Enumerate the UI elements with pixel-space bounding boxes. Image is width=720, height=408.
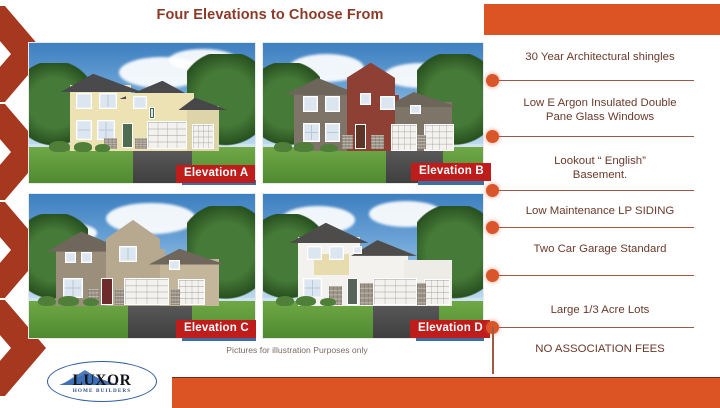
stone-accent	[115, 289, 124, 305]
window	[380, 96, 395, 110]
window	[169, 260, 180, 270]
window	[303, 96, 318, 111]
feature-divider	[496, 227, 694, 228]
elevation-a-label: Elevation A	[176, 165, 255, 183]
feature-text: 30 Year Architectural shingles	[494, 50, 706, 65]
shrub	[74, 142, 92, 152]
elevation-a-photo[interactable]	[28, 42, 256, 184]
window	[63, 278, 83, 298]
slide-title: Four Elevations to Choose From	[60, 7, 480, 23]
bullet-dot-icon	[486, 221, 499, 234]
window	[81, 252, 92, 264]
accent-window	[149, 107, 155, 118]
window	[329, 246, 344, 260]
logo-tagline: HOME BUILDERS	[47, 388, 157, 394]
window	[303, 278, 323, 298]
disclaimer-text: Pictures for illustration Purposes only	[182, 345, 412, 355]
slide-canvas: Four Elevations to Choose From	[0, 0, 720, 408]
garage-door	[373, 278, 417, 305]
bullet-dot-icon	[486, 74, 499, 87]
garage-door	[391, 124, 417, 151]
shrub	[38, 296, 56, 306]
shrub	[294, 142, 314, 152]
front-door	[347, 278, 358, 305]
stone-accent	[371, 135, 384, 149]
house-render-c	[29, 194, 255, 338]
elevation-d-photo[interactable]	[262, 193, 484, 339]
window	[133, 96, 147, 109]
luxor-home-builders-logo: LUXOR HOME BUILDERS	[47, 361, 157, 402]
feature-text: Low Maintenance LP SIDING	[494, 204, 706, 219]
window	[303, 123, 321, 143]
feature-text: Lookout “ English”	[494, 154, 706, 169]
window	[325, 123, 340, 143]
garage-door	[147, 121, 188, 149]
feature-divider	[496, 136, 694, 137]
window	[99, 93, 117, 108]
shrub	[95, 144, 111, 152]
garage-door	[424, 124, 455, 151]
garage-door	[124, 278, 169, 305]
stone-accent	[417, 135, 426, 149]
house-render-d	[263, 194, 483, 338]
feature-vertical-rule	[492, 327, 494, 374]
shrub	[58, 296, 78, 306]
shrub	[49, 141, 69, 152]
stone-accent	[360, 283, 373, 305]
top-orange-banner	[484, 4, 720, 35]
elevation-d-label: Elevation D	[410, 320, 490, 338]
window	[65, 252, 76, 264]
window	[325, 96, 340, 111]
shrub	[320, 144, 338, 152]
stone-accent	[342, 135, 353, 149]
shrub	[320, 298, 335, 307]
feature-text: Pane Glass Windows	[494, 110, 706, 125]
feature-text: Basement.	[494, 168, 706, 183]
garage-door	[192, 124, 215, 149]
elevation-b-label: Elevation B	[411, 163, 491, 181]
house-render-a	[29, 43, 255, 183]
window	[410, 105, 421, 115]
shrub	[83, 298, 99, 307]
garage-door	[424, 279, 450, 305]
house-render-b	[263, 43, 483, 183]
front-door	[101, 278, 112, 305]
elevation-c-photo[interactable]	[28, 193, 256, 339]
feature-text: Two Car Garage Standard	[494, 242, 706, 257]
elevation-c-label: Elevation C	[176, 320, 256, 338]
feature-divider	[496, 327, 694, 328]
feature-list: 30 Year Architectural shingles Low E Arg…	[486, 38, 720, 378]
feature-divider	[496, 190, 694, 191]
stone-accent	[171, 289, 180, 305]
shrub	[296, 296, 316, 306]
front-door	[355, 124, 366, 149]
garage-door	[178, 279, 205, 305]
feature-text: NO ASSOCIATION FEES	[494, 342, 706, 357]
window	[353, 246, 362, 255]
bullet-dot-icon	[486, 130, 499, 143]
feature-text: Large 1/3 Acre Lots	[494, 303, 706, 318]
window	[97, 120, 115, 140]
window	[76, 120, 92, 140]
bullet-dot-icon	[486, 184, 499, 197]
window	[76, 93, 92, 108]
bullet-dot-icon	[486, 269, 499, 282]
feature-text: Low E Argon Insulated Double	[494, 96, 706, 111]
feature-divider	[496, 80, 694, 81]
front-door	[122, 123, 133, 148]
stone-accent	[135, 138, 146, 149]
window	[119, 246, 137, 262]
shrub	[276, 296, 294, 306]
stone-accent	[417, 283, 426, 305]
feature-divider	[496, 275, 694, 276]
bottom-orange-banner	[172, 378, 720, 408]
shrub	[274, 142, 292, 152]
window	[360, 93, 371, 104]
window	[307, 246, 322, 260]
